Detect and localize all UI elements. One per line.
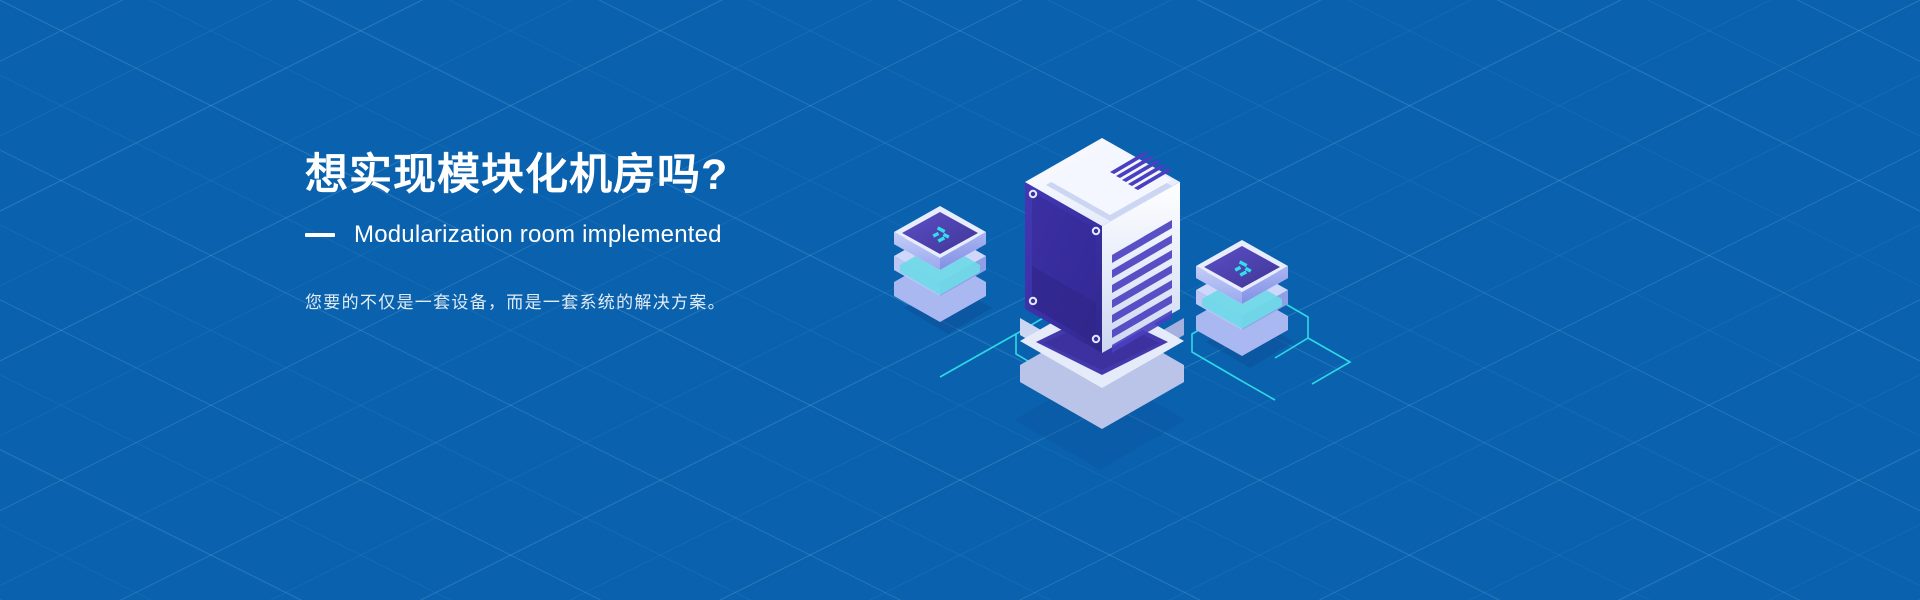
server-tower [1020,138,1184,429]
hero-banner: 想实现模块化机房吗? Modularization room implement… [0,0,1920,600]
dash-marker-icon [305,233,335,237]
hero-subtitle-en: Modularization room implemented [354,221,722,249]
isometric-datacenter-illustration [820,70,1380,410]
